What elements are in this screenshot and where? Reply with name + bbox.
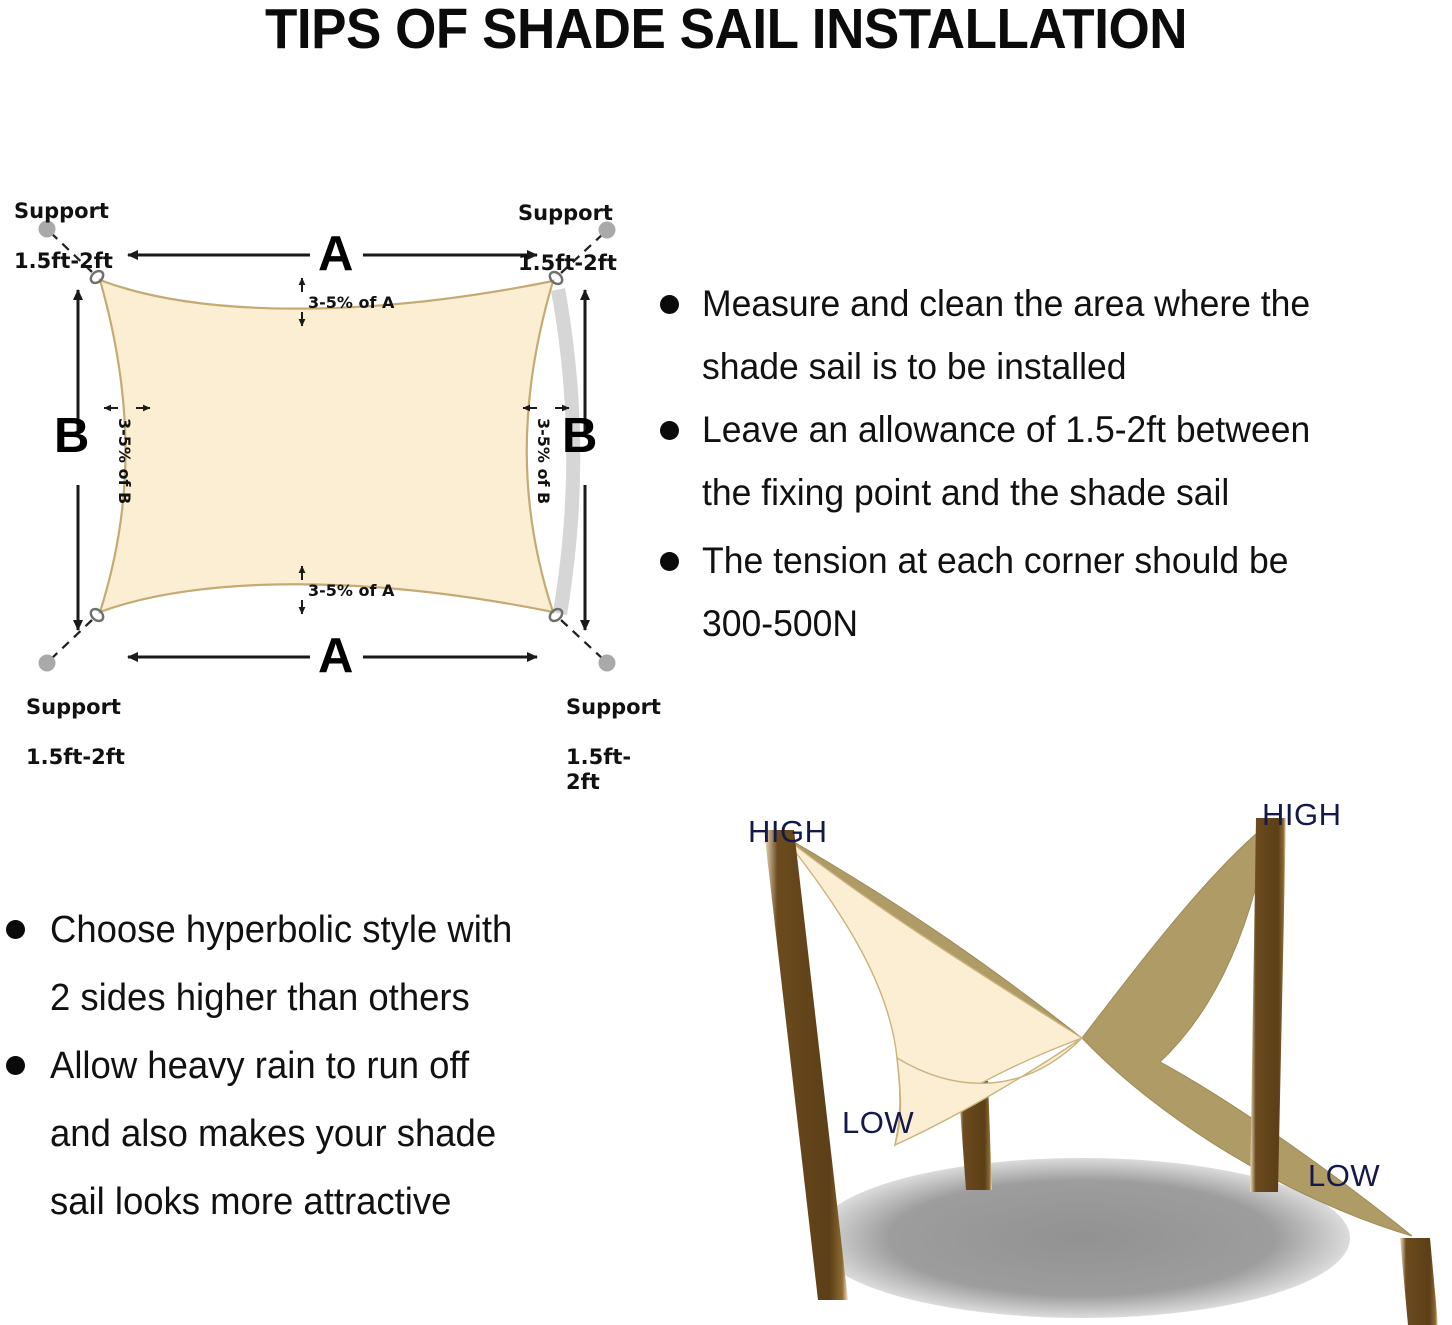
list-item: Leave an allowance of 1.5-2ft between th… [660, 398, 1450, 529]
dimension-letter-b-left: B [54, 412, 89, 461]
support-title: Support [26, 695, 125, 720]
sag-note-left: 3-5% of B [115, 418, 134, 504]
bullet-dot [660, 552, 679, 571]
hyperbolic-sail-illustration: HIGH HIGH LOW LOW [690, 800, 1452, 1325]
support-label-top-right: Support 1.5ft-2ft [518, 176, 617, 301]
support-label-bottom-left: Support 1.5ft-2ft [26, 670, 125, 795]
sag-note-top: 3-5% of A [308, 293, 394, 312]
list-item: Allow heavy rain to run off and also mak… [6, 1032, 636, 1236]
page-title: TIPS OF SHADE SAIL INSTALLATION [51, 0, 1401, 60]
support-value: 1.5ft-2ft [14, 249, 113, 274]
sag-note-right: 3-5% of B [534, 418, 553, 504]
bullet-dot [6, 1056, 25, 1075]
installation-tips-list: Measure and clean the area where the sha… [660, 272, 1450, 655]
support-value: 1.5ft-2ft [518, 251, 617, 276]
tip-line: Allow heavy rain to run off [50, 1032, 469, 1100]
dimension-letter-a-top: A [318, 230, 353, 279]
label-high-left: HIGH [748, 814, 828, 850]
bullet-dot [660, 421, 679, 440]
support-value: 1.5ft-2ft [566, 745, 661, 795]
tip-line: sail looks more attractive [50, 1168, 451, 1236]
list-item: Choose hyperbolic style with 2 sides hig… [6, 896, 636, 1032]
label-low-left: LOW [842, 1105, 914, 1141]
list-item: Measure and clean the area where the sha… [660, 272, 1450, 398]
support-label-top-left: Support 1.5ft-2ft [14, 174, 113, 299]
support-title: Support [14, 199, 113, 224]
list-item: The tension at each corner should be 300… [660, 529, 1450, 655]
tip-line: 300-500N [702, 592, 858, 655]
dimension-letter-a-bottom: A [318, 632, 353, 681]
hyperbolic-sail-svg [690, 800, 1452, 1325]
hyperbolic-tips-list: Choose hyperbolic style with 2 sides hig… [6, 896, 636, 1236]
label-high-right: HIGH [1262, 797, 1342, 833]
dimension-letter-b-right: B [562, 412, 597, 461]
tip-line: 2 sides higher than others [50, 964, 470, 1032]
support-value: 1.5ft-2ft [26, 745, 125, 770]
tip-line: shade sail is to be installed [702, 335, 1127, 398]
tip-line: and also makes your shade [50, 1100, 496, 1168]
tip-line: The tension at each corner should be [702, 529, 1288, 592]
support-title: Support [518, 201, 617, 226]
tip-line: Leave an allowance of 1.5-2ft between [702, 398, 1310, 461]
post-right-high [1250, 818, 1286, 1192]
bullet-dot [6, 920, 25, 939]
sag-note-bottom: 3-5% of A [308, 581, 394, 600]
label-low-right: LOW [1308, 1158, 1380, 1194]
tip-line: Choose hyperbolic style with [50, 896, 512, 964]
sail-body [100, 280, 553, 612]
support-title: Support [566, 695, 661, 720]
tip-line: the fixing point and the shade sail [702, 461, 1229, 524]
bullet-dot [660, 295, 679, 314]
tip-line: Measure and clean the area where the [702, 272, 1310, 335]
post-right-low [1400, 1238, 1438, 1325]
support-label-bottom-right: Support 1.5ft-2ft [566, 670, 661, 820]
rectangular-sail-diagram: Support 1.5ft-2ft Support 1.5ft-2ft Supp… [0, 160, 660, 740]
